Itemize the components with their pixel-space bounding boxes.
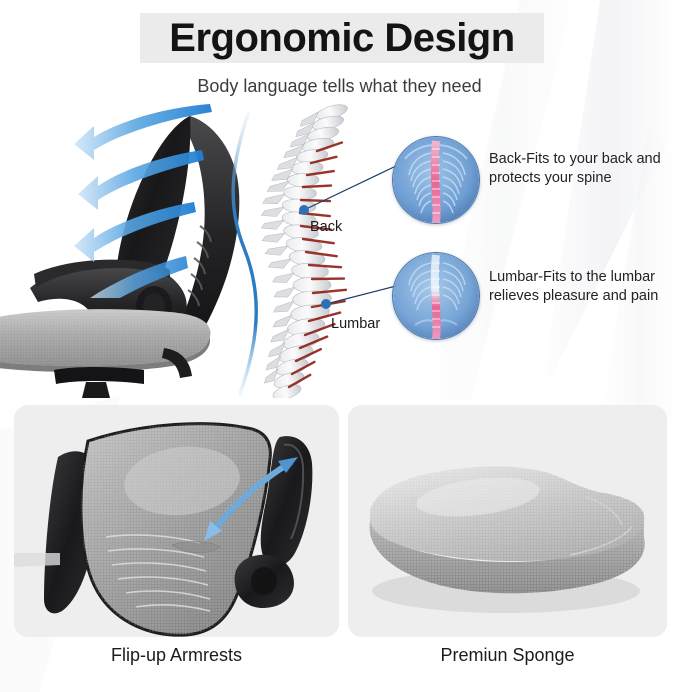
callout-connector-lines [280,98,679,398]
flip-up-armrest-image [14,405,339,637]
callout-lumbar-line1: Lumbar-Fits to the lumbar [489,268,679,287]
spine-label-lumbar: Lumbar [331,316,380,332]
callout-back-line2: protects your spine [489,169,679,188]
page-subtitle: Body language tells what they need [0,76,679,97]
infographic-canvas: Ergonomic Design Body language tells wha… [0,0,679,692]
callout-lumbar-line2: relieves pleasure and pain [489,287,679,306]
caption-premiun-sponge: Premiun Sponge [348,645,667,666]
panel-flip-up-armrests [14,405,339,637]
callout-circle-lumbar-image [392,252,480,340]
airflow-arrows-icon [34,98,224,298]
callout-back-line1: Back-Fits to your back and [489,150,679,169]
callout-circle-back-image [392,136,480,224]
seat-cushion-image [348,405,667,637]
caption-flip-up-armrests: Flip-up Armrests [14,645,339,666]
spine-label-back: Back [310,219,342,235]
panel-premiun-sponge [348,405,667,637]
callout-text-back: Back-Fits to your back and protects your… [489,150,679,188]
page-title: Ergonomic Design [140,12,544,64]
callout-text-lumbar: Lumbar-Fits to the lumbar relieves pleas… [489,268,679,306]
hero-illustration: Back Lumbar [0,100,679,400]
